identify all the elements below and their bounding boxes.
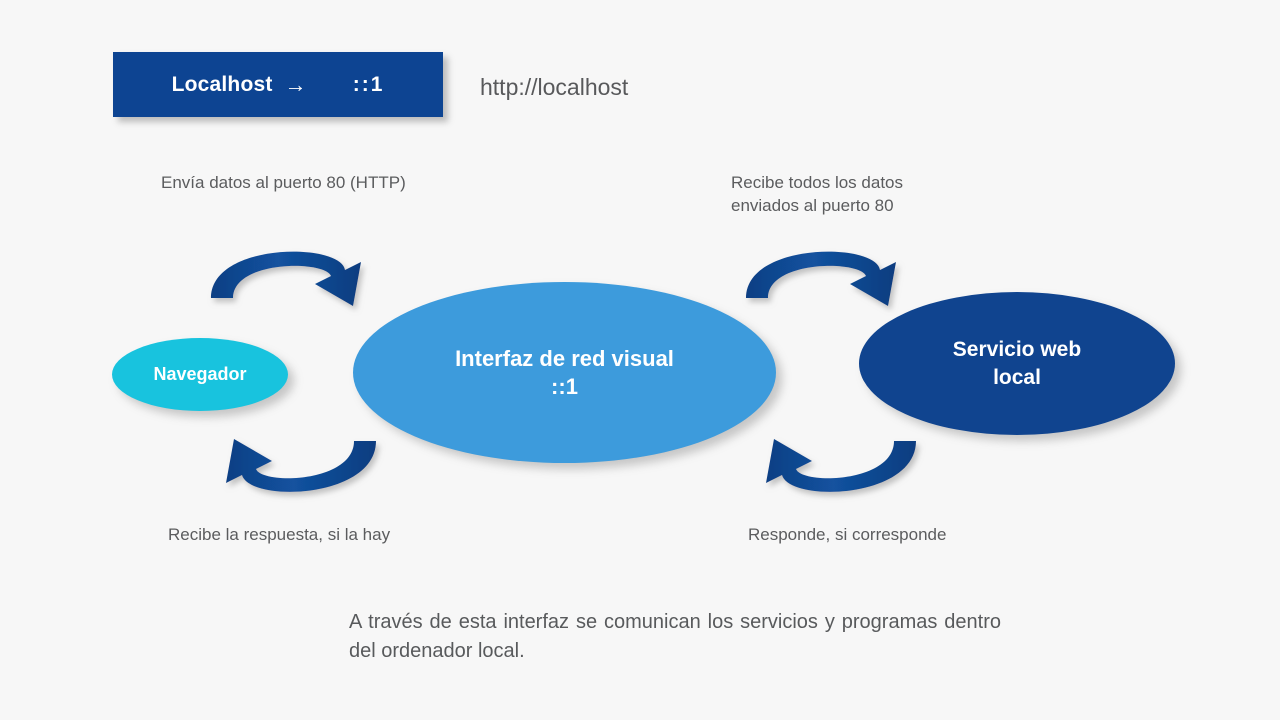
caption-receive-data: Recibe todos los datos enviados al puert…: [731, 172, 903, 218]
node-web-service-label: Servicio web local: [953, 336, 1081, 391]
node-network-interface-label: Interfaz de red visual ::1: [455, 345, 674, 400]
arc-arrow-interface-to-service: [738, 222, 924, 302]
localhost-banner-content: Localhost → ::1: [172, 73, 385, 97]
arc-arrow-service-to-interface: [738, 437, 924, 517]
localhost-banner-address: ::1: [353, 73, 385, 97]
localhost-banner: Localhost → ::1: [113, 52, 443, 117]
caption-respond: Responde, si corresponde: [748, 524, 946, 547]
caption-receive-response: Recibe la respuesta, si la hay: [168, 524, 390, 547]
localhost-banner-host: Localhost: [172, 73, 273, 97]
right-arrow-icon: →: [285, 74, 307, 96]
node-browser: Navegador: [112, 338, 288, 411]
footer-description: A través de esta interfaz se comunican l…: [349, 608, 1001, 666]
caption-send-data: Envía datos al puerto 80 (HTTP): [161, 172, 406, 195]
arc-arrow-interface-to-browser: [198, 437, 384, 517]
node-web-service: Servicio web local: [859, 292, 1175, 435]
localhost-url: http://localhost: [480, 74, 628, 101]
arc-arrow-browser-to-interface: [203, 222, 389, 302]
node-network-interface: Interfaz de red visual ::1: [353, 282, 776, 463]
slide-canvas: Localhost → ::1 http://localhost Envía d…: [0, 0, 1280, 720]
node-browser-label: Navegador: [153, 364, 246, 385]
